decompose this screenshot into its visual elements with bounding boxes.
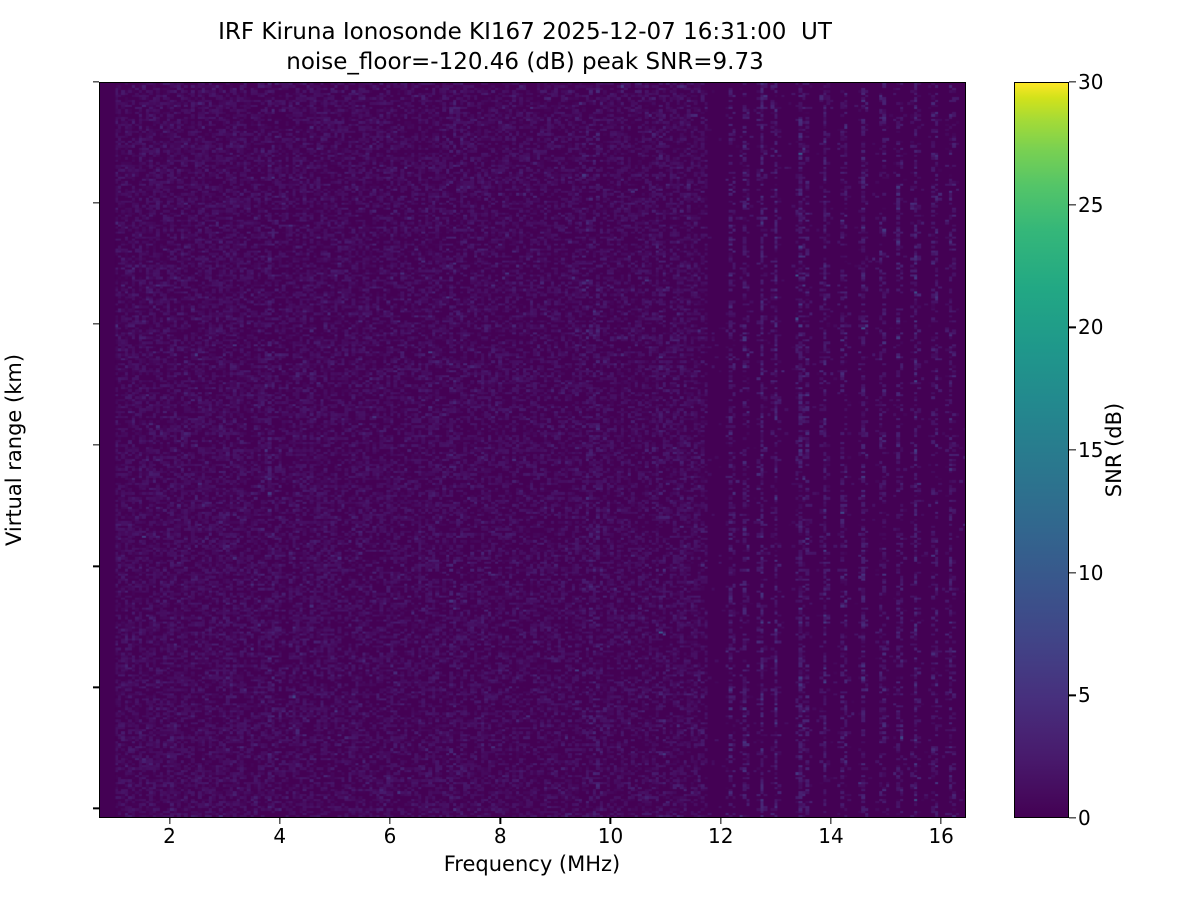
colorbar-tick-mark	[1069, 572, 1076, 573]
colorbar-label: SNR (dB)	[1102, 403, 1126, 497]
colorbar-tick-label: 25	[1078, 193, 1103, 217]
colorbar	[1014, 82, 1069, 818]
x-tick-label: 8	[494, 824, 507, 848]
y-tick-mark	[93, 808, 99, 809]
ionogram-heatmap-canvas	[100, 83, 965, 817]
heatmap-axes	[99, 82, 966, 818]
ionogram-figure: IRF Kiruna Ionosonde KI167 2025-12-07 16…	[0, 0, 1200, 900]
x-tick-label: 6	[384, 824, 397, 848]
colorbar-tick-mark	[1069, 695, 1076, 696]
y-tick-mark	[93, 323, 99, 324]
x-tick-mark	[500, 818, 501, 824]
colorbar-tick-mark	[1069, 817, 1076, 818]
colorbar-tick-mark	[1069, 327, 1076, 328]
x-tick-mark	[169, 818, 170, 824]
x-tick-label: 16	[928, 824, 953, 848]
x-tick-mark	[720, 818, 721, 824]
colorbar-tick-mark	[1069, 81, 1076, 82]
chart-title-block: IRF Kiruna Ionosonde KI167 2025-12-07 16…	[0, 18, 1050, 78]
x-axis-label: Frequency (MHz)	[444, 852, 620, 876]
x-tick-mark	[941, 818, 942, 824]
chart-subtitle: noise_floor=-120.46 (dB) peak SNR=9.73	[0, 48, 1050, 78]
y-tick-mark	[93, 566, 99, 567]
x-tick-mark	[279, 818, 280, 824]
x-tick-mark	[610, 818, 611, 824]
colorbar-tick-label: 5	[1078, 683, 1091, 707]
x-tick-label: 2	[163, 824, 176, 848]
colorbar-tick-mark	[1069, 204, 1076, 205]
x-tick-mark	[830, 818, 831, 824]
x-tick-label: 4	[273, 824, 286, 848]
x-tick-label: 12	[708, 824, 733, 848]
x-tick-mark	[389, 818, 390, 824]
colorbar-tick-mark	[1069, 449, 1076, 450]
y-tick-mark	[93, 687, 99, 688]
colorbar-tick-label: 10	[1078, 561, 1103, 585]
colorbar-tick-label: 0	[1078, 806, 1091, 830]
x-tick-label: 14	[818, 824, 843, 848]
colorbar-tick-label: 15	[1078, 438, 1103, 462]
colorbar-tick-label: 20	[1078, 315, 1103, 339]
y-tick-mark	[93, 81, 99, 82]
chart-title: IRF Kiruna Ionosonde KI167 2025-12-07 16…	[0, 18, 1050, 48]
y-tick-mark	[93, 202, 99, 203]
y-axis-label: Virtual range (km)	[2, 354, 26, 546]
x-tick-label: 10	[598, 824, 623, 848]
colorbar-tick-label: 30	[1078, 70, 1103, 94]
y-tick-mark	[93, 445, 99, 446]
